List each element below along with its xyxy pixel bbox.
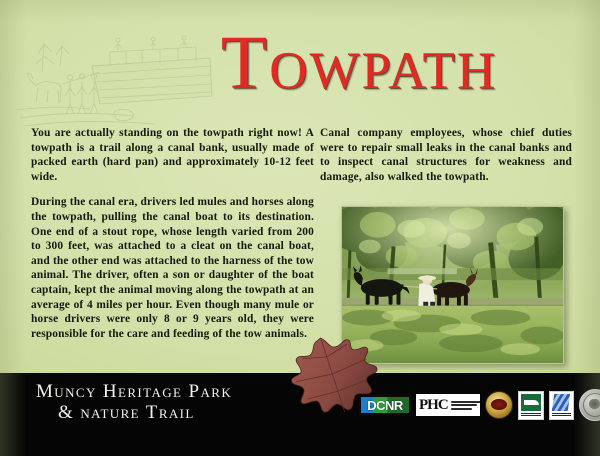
interpretive-sign-poster: Towpath You are actually standing on the… bbox=[0, 0, 600, 456]
green-card-logo-mark bbox=[521, 394, 541, 411]
green-card-logo[interactable] bbox=[518, 391, 544, 420]
paragraph: Canal company employees, whose chief dut… bbox=[320, 126, 572, 184]
phc-logo-label: PHC bbox=[416, 397, 450, 414]
paragraph: During the canal era, drivers led mules … bbox=[31, 195, 314, 341]
blue-card-logo-mark bbox=[552, 394, 570, 411]
paragraph: You are actually standing on the towpath… bbox=[31, 126, 314, 184]
blue-card-logo[interactable] bbox=[549, 391, 574, 420]
dcnr-logo[interactable]: DCNR bbox=[359, 394, 411, 416]
green-card-logo-caption bbox=[521, 413, 541, 417]
phc-logo[interactable]: PHC bbox=[416, 394, 480, 416]
dcnr-logo-label: DCNR bbox=[367, 398, 403, 413]
commonwealth-seal-logo[interactable] bbox=[579, 389, 600, 421]
right-text-column: Canal company employees, whose chief dut… bbox=[320, 126, 572, 195]
page-title: Towpath bbox=[0, 20, 600, 106]
gold-seal-logo[interactable] bbox=[485, 391, 513, 419]
phc-logo-textlines bbox=[450, 401, 480, 410]
left-text-column: You are actually standing on the towpath… bbox=[31, 126, 314, 352]
organization-name-line1: Muncy Heritage Park bbox=[36, 381, 232, 402]
blue-card-logo-caption bbox=[552, 413, 571, 417]
sponsor-logo-strip: DCNR PHC bbox=[359, 390, 600, 420]
